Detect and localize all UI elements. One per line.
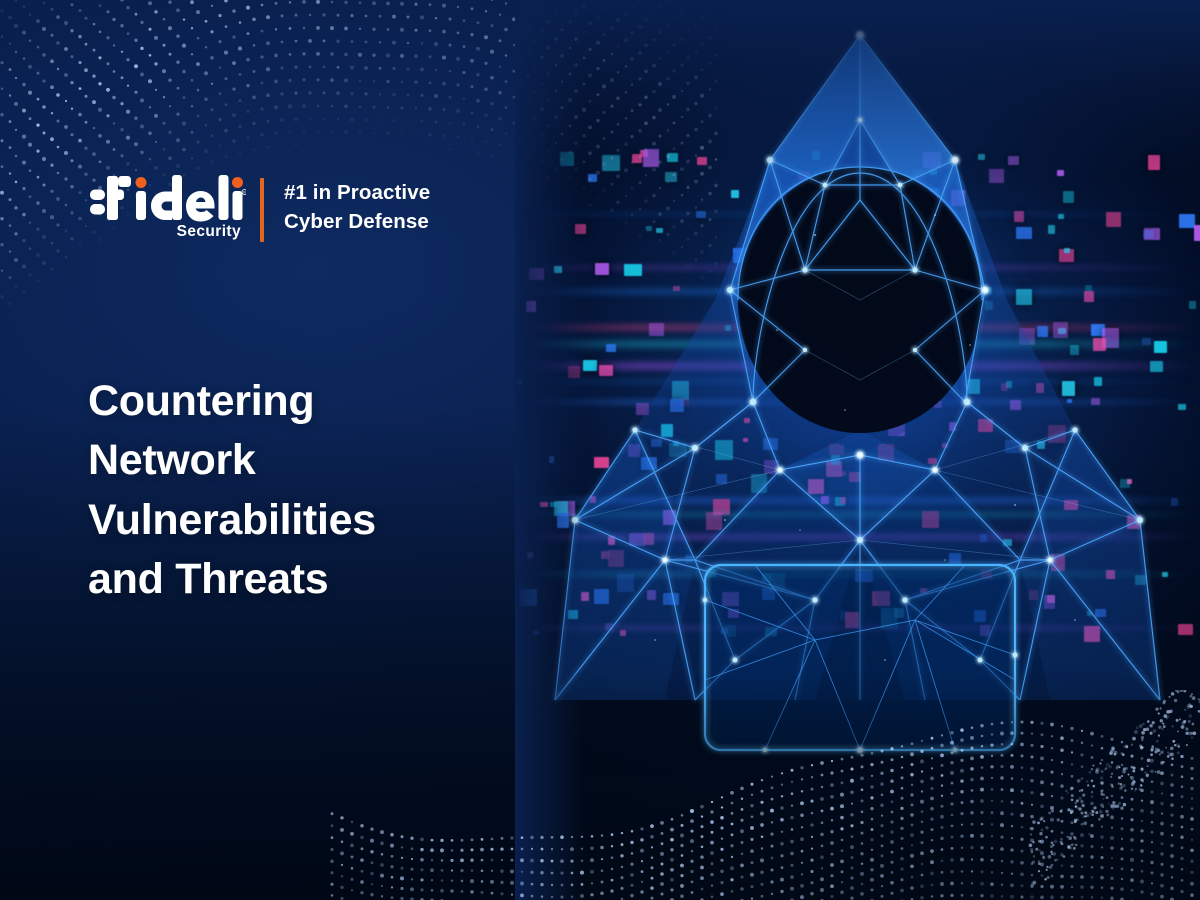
brand-lockup[interactable]: R Security #1 in Proactive Cyber Defense	[88, 172, 430, 242]
page-title: Countering Network Vulnerabilities and T…	[88, 372, 488, 609]
logo-accent-dot-1	[136, 177, 147, 188]
hero-banner: R Security #1 in Proactive Cyber Defense…	[0, 0, 1200, 900]
svg-text:R: R	[243, 191, 246, 195]
logo-accent-dot-2	[232, 177, 243, 188]
brand-divider	[260, 178, 264, 242]
fidelis-logo[interactable]: R Security	[88, 172, 246, 241]
left-content-column: R Security #1 in Proactive Cyber Defense…	[0, 0, 515, 900]
fidelis-pixel-f-logo: R	[88, 174, 246, 222]
logo-sublabel: Security	[88, 223, 246, 241]
brand-tagline: #1 in Proactive Cyber Defense	[284, 172, 430, 236]
